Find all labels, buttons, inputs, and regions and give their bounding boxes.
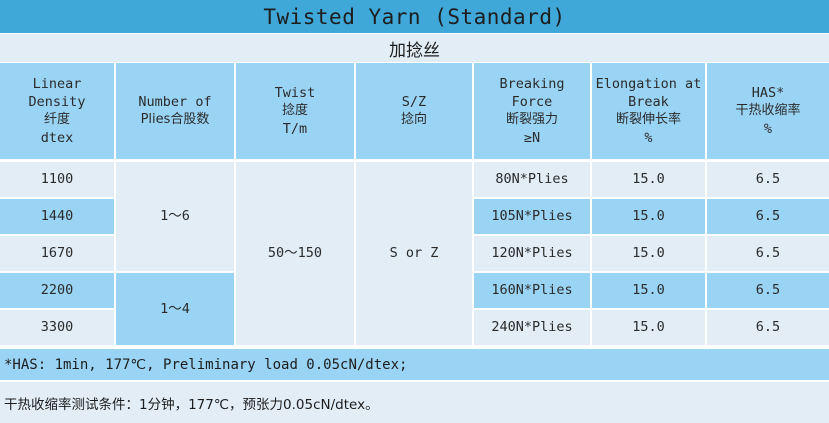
header-line-1: Breaking — [499, 75, 564, 93]
table-row: 15.0 — [592, 273, 705, 308]
footnote-chinese-text: 干热收缩率测试条件：1分钟，177℃，预张力0.05cN/dtex。 — [4, 393, 379, 413]
column-header-elongation-at-break: Elongation at Break 断裂伸长率 % — [592, 63, 705, 159]
header-line-3: 断裂强力 — [506, 111, 558, 129]
cell-sz-value: S or Z — [390, 245, 439, 262]
header-line-2: Force — [512, 93, 553, 111]
cell-breaking-force: 160N*Plies — [491, 282, 572, 299]
cell-breaking-force: 120N*Plies — [491, 245, 572, 262]
cell-linear-density: 1100 — [41, 171, 74, 188]
cell-elongation: 15.0 — [632, 208, 665, 225]
column-header-linear-density: Linear Density 纤度 dtex — [0, 63, 114, 159]
cell-sz-merged: S or Z — [356, 162, 472, 345]
cell-has: 6.5 — [756, 319, 780, 336]
cell-linear-density: 1670 — [41, 245, 74, 262]
cell-has: 6.5 — [756, 208, 780, 225]
column-header-twist: Twist 捻度 T/m — [236, 63, 354, 159]
cell-breaking-force: 80N*Plies — [495, 171, 568, 188]
table-row: 6.5 — [707, 236, 829, 271]
table-row: 160N*Plies — [474, 273, 590, 308]
header-line-2: Break — [628, 93, 669, 111]
cell-plies-value: 1～4 — [160, 301, 190, 318]
cell-linear-density: 1440 — [41, 208, 74, 225]
cell-elongation: 15.0 — [632, 245, 665, 262]
cell-linear-density: 2200 — [41, 282, 74, 299]
cell-plies-group-top: 1～6 — [116, 162, 234, 271]
cell-linear-density: 3300 — [41, 319, 74, 336]
cell-has: 6.5 — [756, 282, 780, 299]
page-title: Twisted Yarn (Standard) — [263, 5, 565, 29]
cell-plies-value: 1～6 — [160, 208, 190, 225]
cell-has: 6.5 — [756, 171, 780, 188]
header-line-2: Density — [29, 93, 86, 111]
header-line-3: 纤度 — [44, 111, 70, 129]
table-row: 15.0 — [592, 162, 705, 197]
header-line-2: 干热收缩率 — [735, 102, 800, 120]
page-subtitle: 加捻丝 — [389, 36, 440, 61]
table-row: 6.5 — [707, 310, 829, 345]
table-row: 105N*Plies — [474, 199, 590, 234]
table-row: 6.5 — [707, 273, 829, 308]
table-title-band: Twisted Yarn (Standard) — [0, 0, 829, 33]
header-line-2: 捻向 — [401, 111, 427, 129]
header-line-1: Number of — [138, 93, 211, 111]
footnote-english-text: *HAS: 1min, 177℃, Preliminary load 0.05c… — [4, 357, 407, 373]
table-row: 6.5 — [707, 162, 829, 197]
cell-twist-value: 50～150 — [268, 245, 322, 262]
cell-elongation: 15.0 — [632, 282, 665, 299]
table-row: 3300 — [0, 310, 114, 345]
cell-elongation: 15.0 — [632, 171, 665, 188]
header-line-2: Plies合股数 — [141, 111, 210, 129]
header-line-1: HAS* — [752, 84, 785, 102]
table-row: 15.0 — [592, 199, 705, 234]
table-row: 240N*Plies — [474, 310, 590, 345]
cell-twist-merged: 50～150 — [236, 162, 354, 345]
table-row: 1100 — [0, 162, 114, 197]
cell-elongation: 15.0 — [632, 319, 665, 336]
table-subtitle-band: 加捻丝 — [0, 34, 829, 62]
header-line-1: Twist — [275, 84, 316, 102]
header-line-1: S/Z — [402, 93, 426, 111]
column-header-sz: S/Z 捻向 — [356, 63, 472, 159]
header-line-1: Linear — [33, 75, 82, 93]
header-line-2: 捻度 — [282, 102, 308, 120]
header-line-3: T/m — [283, 120, 307, 138]
header-line-4: ≥N — [524, 129, 540, 147]
footnote-english: *HAS: 1min, 177℃, Preliminary load 0.05c… — [0, 349, 829, 380]
table-row: 6.5 — [707, 199, 829, 234]
header-line-4: % — [644, 129, 652, 147]
column-header-has: HAS* 干热收缩率 % — [707, 63, 829, 159]
column-header-number-of-plies: Number of Plies合股数 — [116, 63, 234, 159]
column-header-breaking-force: Breaking Force 断裂强力 ≥N — [474, 63, 590, 159]
cell-plies-group-bottom: 1～4 — [116, 273, 234, 345]
header-line-1: Elongation at — [596, 75, 702, 93]
cell-breaking-force: 240N*Plies — [491, 319, 572, 336]
cell-has: 6.5 — [756, 245, 780, 262]
table-row: 2200 — [0, 273, 114, 308]
table-row: 15.0 — [592, 236, 705, 271]
header-line-4: dtex — [41, 129, 74, 147]
cell-breaking-force: 105N*Plies — [491, 208, 572, 225]
table-row: 80N*Plies — [474, 162, 590, 197]
table-row: 1440 — [0, 199, 114, 234]
footnote-chinese: 干热收缩率测试条件：1分钟，177℃，预张力0.05cN/dtex。 — [0, 382, 829, 423]
header-line-3: % — [764, 120, 772, 138]
table-row: 15.0 — [592, 310, 705, 345]
table-row: 1670 — [0, 236, 114, 271]
header-line-3: 断裂伸长率 — [616, 111, 681, 129]
spec-table-sheet: Twisted Yarn (Standard) 加捻丝 Linear Densi… — [0, 0, 829, 423]
table-row: 120N*Plies — [474, 236, 590, 271]
